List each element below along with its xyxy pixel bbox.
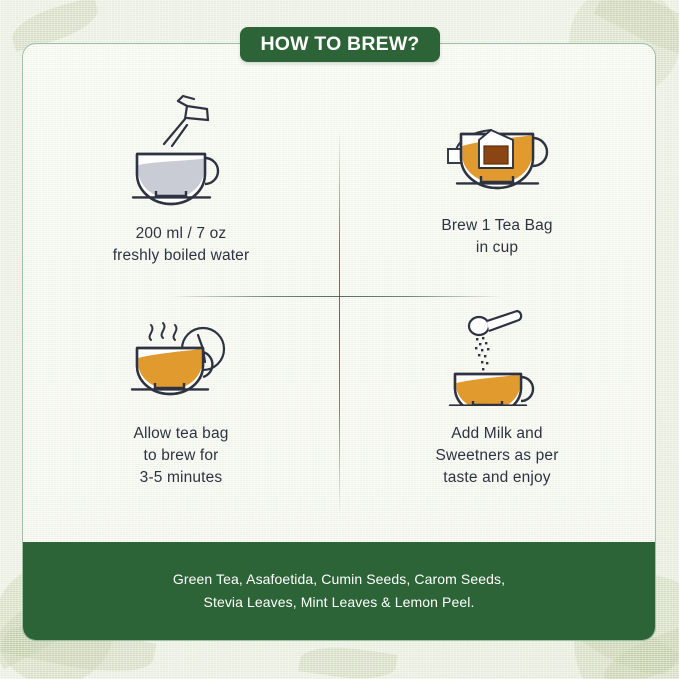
brew-step-4: Add Milk and Sweetners as per taste and …	[339, 292, 655, 540]
leaf-decoration	[298, 641, 397, 679]
vertical-divider	[339, 130, 340, 516]
ingredients-text: Green Tea, Asafoetida, Cumin Seeds, Caro…	[173, 568, 505, 613]
brew-step-2: Brew 1 Tea Bag in cup	[339, 44, 655, 292]
pouring-boiled-water-into-cup-icon	[115, 88, 247, 211]
tea-bag-in-cup-icon	[431, 118, 563, 203]
brew-step-4-label: Add Milk and Sweetners as per taste and …	[435, 423, 558, 489]
how-to-brew-badge: HOW TO BREW?	[240, 27, 440, 62]
brew-step-1: 200 ml / 7 oz freshly boiled water	[23, 44, 339, 292]
page-title: HOW TO BREW?	[260, 33, 419, 56]
brew-step-2-label: Brew 1 Tea Bag in cup	[441, 215, 552, 259]
horizontal-divider	[172, 296, 502, 297]
brew-step-3: Allow tea bag to brew for 3-5 minutes	[23, 292, 339, 540]
steaming-cup-with-clock-icon	[115, 314, 247, 411]
spoon-adding-sweetener-to-cup-icon	[431, 304, 563, 411]
brew-step-1-label: 200 ml / 7 oz freshly boiled water	[113, 223, 250, 267]
page-background: Green Tea, Asafoetida, Cumin Seeds, Caro…	[0, 0, 679, 679]
ingredients-footer: Green Tea, Asafoetida, Cumin Seeds, Caro…	[23, 542, 655, 640]
brew-step-3-label: Allow tea bag to brew for 3-5 minutes	[133, 423, 228, 489]
